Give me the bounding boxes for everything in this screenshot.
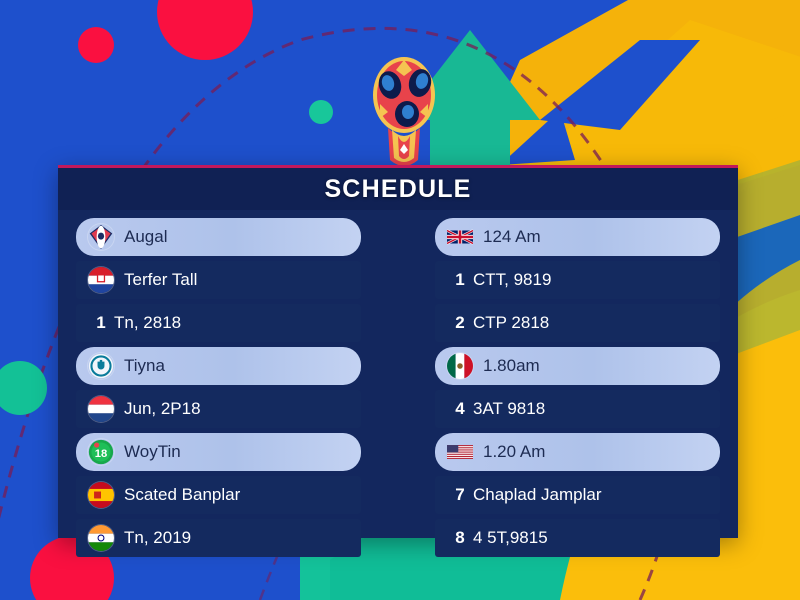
schedule-row[interactable]: 1Tn, 2818 [76,304,361,342]
schedule-row[interactable]: 2CTP 2818 [435,304,720,342]
schedule-row[interactable]: 1.80am [435,347,720,385]
svg-text:18: 18 [95,448,108,460]
schedule-row[interactable]: Augal [76,218,361,256]
schedule-right-column: 124 Am1CTT, 98192CTP 28181.80am43AT 9818… [435,218,720,557]
schedule-row[interactable]: Tiyna [76,347,361,385]
row-label: Tiyna [124,356,165,376]
row-label: Tn, 2818 [114,313,181,333]
row-label: 3AT 9818 [473,399,545,419]
red-circle-small [78,27,114,63]
schedule-row[interactable]: 18WoyTin [76,433,361,471]
united-kingdom-flag-icon [447,227,473,247]
schedule-panel: SCHEDULE AugalTerfer Tall1Tn, 2818TiynaJ… [58,165,738,538]
row-rank: 1 [447,270,473,290]
panel-header: SCHEDULE [58,165,738,210]
row-label: 1.80am [483,356,540,376]
schedule-row[interactable]: 84 5T,9815 [435,519,720,557]
teal-circle-small [309,100,333,124]
spain-flag-icon [88,482,114,508]
row-label: Scated Banplar [124,485,240,505]
row-rank: 8 [447,528,473,548]
mexico-flag-icon [447,353,473,379]
row-label: Jun, 2P18 [124,399,201,419]
row-rank: 2 [447,313,473,333]
row-label: Terfer Tall [124,270,197,290]
row-label: Chaplad Jamplar [473,485,602,505]
row-rank: 7 [447,485,473,505]
schedule-row[interactable]: Terfer Tall [76,261,361,299]
united-states-flag-icon [447,442,473,462]
row-label: 4 5T,9815 [473,528,548,548]
schedule-row[interactable]: 124 Am [435,218,720,256]
schedule-row[interactable]: 7Chaplad Jamplar [435,476,720,514]
row-label: WoyTin [124,442,181,462]
schedule-row[interactable]: Scated Banplar [76,476,361,514]
green-18-badge-icon: 18 [88,439,114,465]
india-flag-icon [88,525,114,551]
schedule-row[interactable]: Jun, 2P18 [76,390,361,428]
row-label: 124 Am [483,227,541,247]
row-rank: 4 [447,399,473,419]
row-rank: 1 [88,313,114,333]
uruguay-emblem-icon [88,353,114,379]
schedule-columns: AugalTerfer Tall1Tn, 2818TiynaJun, 2P181… [58,210,738,567]
schedule-row[interactable]: 1.20 Am [435,433,720,471]
netherlands-flag-icon [88,396,114,422]
schedule-screen: SCHEDULE AugalTerfer Tall1Tn, 2818TiynaJ… [0,0,800,600]
row-label: CTP 2818 [473,313,549,333]
schedule-row[interactable]: Tn, 2019 [76,519,361,557]
schedule-row[interactable]: 1CTT, 9819 [435,261,720,299]
croatia-flag-icon [88,267,114,293]
schedule-row[interactable]: 43AT 9818 [435,390,720,428]
schedule-left-column: AugalTerfer Tall1Tn, 2818TiynaJun, 2P181… [76,218,361,557]
row-label: Tn, 2019 [124,528,191,548]
page-title: SCHEDULE [324,175,471,204]
row-label: Augal [124,227,167,247]
emblem-badge-icon [88,224,114,250]
row-label: CTT, 9819 [473,270,551,290]
row-label: 1.20 Am [483,442,545,462]
